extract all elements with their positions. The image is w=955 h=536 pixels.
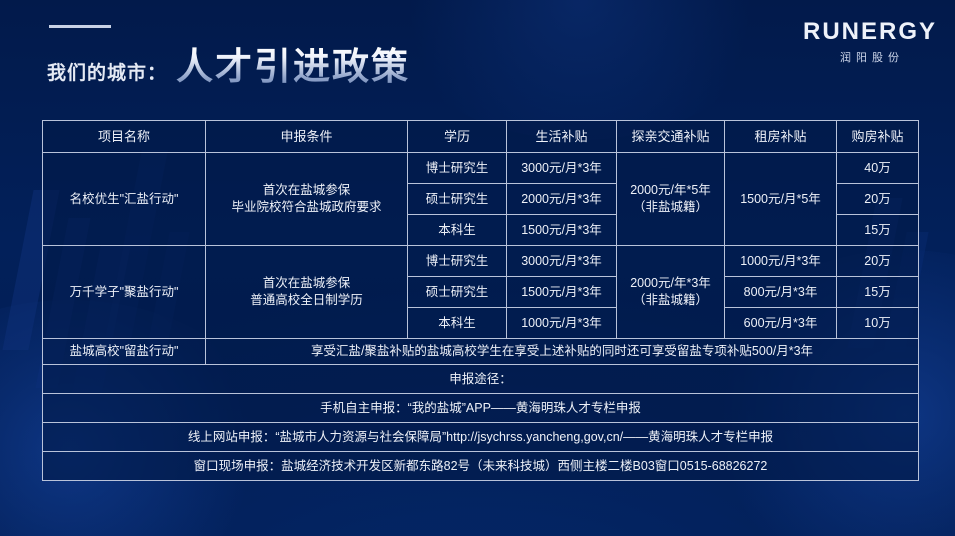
slide-header: 我们的城市： 人才引进政策 RUNERGY 润阳股份 — [0, 0, 955, 105]
cell-rent-subsidy: 1000元/月*3年 — [725, 246, 837, 277]
cell-purchase-subsidy: 15万 — [837, 277, 919, 308]
cell-project-name: 盐城高校"留盐行动" — [43, 339, 206, 365]
condition-line-1: 首次在盐城参保 — [210, 275, 403, 292]
table-row-note: 手机自主申报：“我的盐城”APP——黄海明珠人才专栏申报 — [43, 394, 919, 423]
cell-living-subsidy: 2000元/月*3年 — [507, 184, 617, 215]
col-header-project-name: 项目名称 — [43, 121, 206, 153]
cell-project-name: 万千学子"聚盐行动" — [43, 246, 206, 339]
table-row-keep-policy: 盐城高校"留盐行动" 享受汇盐/聚盐补贴的盐城高校学生在享受上述补贴的同时还可享… — [43, 339, 919, 365]
brand-logo-subtitle: 润阳股份 — [803, 49, 937, 65]
title-rule — [49, 25, 111, 28]
condition-line-2: 普通高校全日制学历 — [210, 292, 403, 309]
cell-purchase-subsidy: 40万 — [837, 153, 919, 184]
note-mobile-application: 手机自主申报：“我的盐城”APP——黄海明珠人才专栏申报 — [43, 394, 919, 423]
table-row: 名校优生"汇盐行动" 首次在盐城参保 毕业院校符合盐城政府要求 博士研究生 30… — [43, 153, 919, 184]
table-header-row: 项目名称 申报条件 学历 生活补贴 探亲交通补贴 租房补贴 购房补贴 — [43, 121, 919, 153]
cell-living-subsidy: 1500元/月*3年 — [507, 215, 617, 246]
cell-project-name: 名校优生"汇盐行动" — [43, 153, 206, 246]
cell-rent-subsidy: 600元/月*3年 — [725, 308, 837, 339]
condition-line-2: 毕业院校符合盐城政府要求 — [210, 199, 403, 216]
cell-rent-subsidy: 800元/月*3年 — [725, 277, 837, 308]
brand-logo: RUNERGY 润阳股份 — [803, 18, 937, 65]
col-header-education: 学历 — [408, 121, 507, 153]
condition-line-1: 首次在盐城参保 — [210, 182, 403, 199]
table-row: 万千学子"聚盐行动" 首次在盐城参保 普通高校全日制学历 博士研究生 3000元… — [43, 246, 919, 277]
note-online-application: 线上网站申报：“盐城市人力资源与社会保障局”http://jsychrss.ya… — [43, 423, 919, 452]
col-header-rent-subsidy: 租房补贴 — [725, 121, 837, 153]
col-header-condition: 申报条件 — [206, 121, 408, 153]
cell-living-subsidy: 1000元/月*3年 — [507, 308, 617, 339]
cell-purchase-subsidy: 20万 — [837, 246, 919, 277]
cell-condition: 首次在盐城参保 毕业院校符合盐城政府要求 — [206, 153, 408, 246]
brand-logo-wordmark: RUNERGY — [803, 18, 937, 46]
talent-policy-table: 项目名称 申报条件 学历 生活补贴 探亲交通补贴 租房补贴 购房补贴 名校优生"… — [42, 120, 919, 481]
cell-purchase-subsidy: 10万 — [837, 308, 919, 339]
cell-purchase-subsidy: 20万 — [837, 184, 919, 215]
cell-purchase-subsidy: 15万 — [837, 215, 919, 246]
cell-education: 博士研究生 — [408, 153, 507, 184]
cell-education: 博士研究生 — [408, 246, 507, 277]
cell-rent-subsidy: 1500元/月*5年 — [725, 153, 837, 246]
cell-education: 本科生 — [408, 215, 507, 246]
cell-education: 硕士研究生 — [408, 277, 507, 308]
cell-travel-subsidy: 2000元/年*5年 （非盐城籍） — [617, 153, 725, 246]
cell-keep-policy-text: 享受汇盐/聚盐补贴的盐城高校学生在享受上述补贴的同时还可享受留盐专项补贴500/… — [206, 339, 919, 365]
cell-condition: 首次在盐城参保 普通高校全日制学历 — [206, 246, 408, 339]
travel-line-1: 2000元/年*3年 — [621, 275, 720, 292]
page-title-prefix: 我们的城市： — [47, 58, 167, 88]
table-row-note: 窗口现场申报：盐城经济技术开发区新都东路82号（未来科技城）西侧主楼二楼B03窗… — [43, 452, 919, 481]
cell-living-subsidy: 1500元/月*3年 — [507, 277, 617, 308]
travel-line-2: （非盐城籍） — [621, 199, 720, 216]
cell-living-subsidy: 3000元/月*3年 — [507, 246, 617, 277]
note-onsite-application: 窗口现场申报：盐城经济技术开发区新都东路82号（未来科技城）西侧主楼二楼B03窗… — [43, 452, 919, 481]
table-row-note: 线上网站申报：“盐城市人力资源与社会保障局”http://jsychrss.ya… — [43, 423, 919, 452]
cell-education: 本科生 — [408, 308, 507, 339]
cell-education: 硕士研究生 — [408, 184, 507, 215]
travel-line-2: （非盐城籍） — [621, 292, 720, 309]
cell-travel-subsidy: 2000元/年*3年 （非盐城籍） — [617, 246, 725, 339]
page-title-main: 人才引进政策 — [176, 36, 410, 90]
page-title: 我们的城市： 人才引进政策 — [47, 36, 410, 90]
cell-living-subsidy: 3000元/月*3年 — [507, 153, 617, 184]
travel-line-1: 2000元/年*5年 — [621, 182, 720, 199]
col-header-purchase-subsidy: 购房补贴 — [837, 121, 919, 153]
note-application-channels-label: 申报途径： — [43, 365, 919, 394]
col-header-travel-subsidy: 探亲交通补贴 — [617, 121, 725, 153]
col-header-living-subsidy: 生活补贴 — [507, 121, 617, 153]
table-row-note: 申报途径： — [43, 365, 919, 394]
